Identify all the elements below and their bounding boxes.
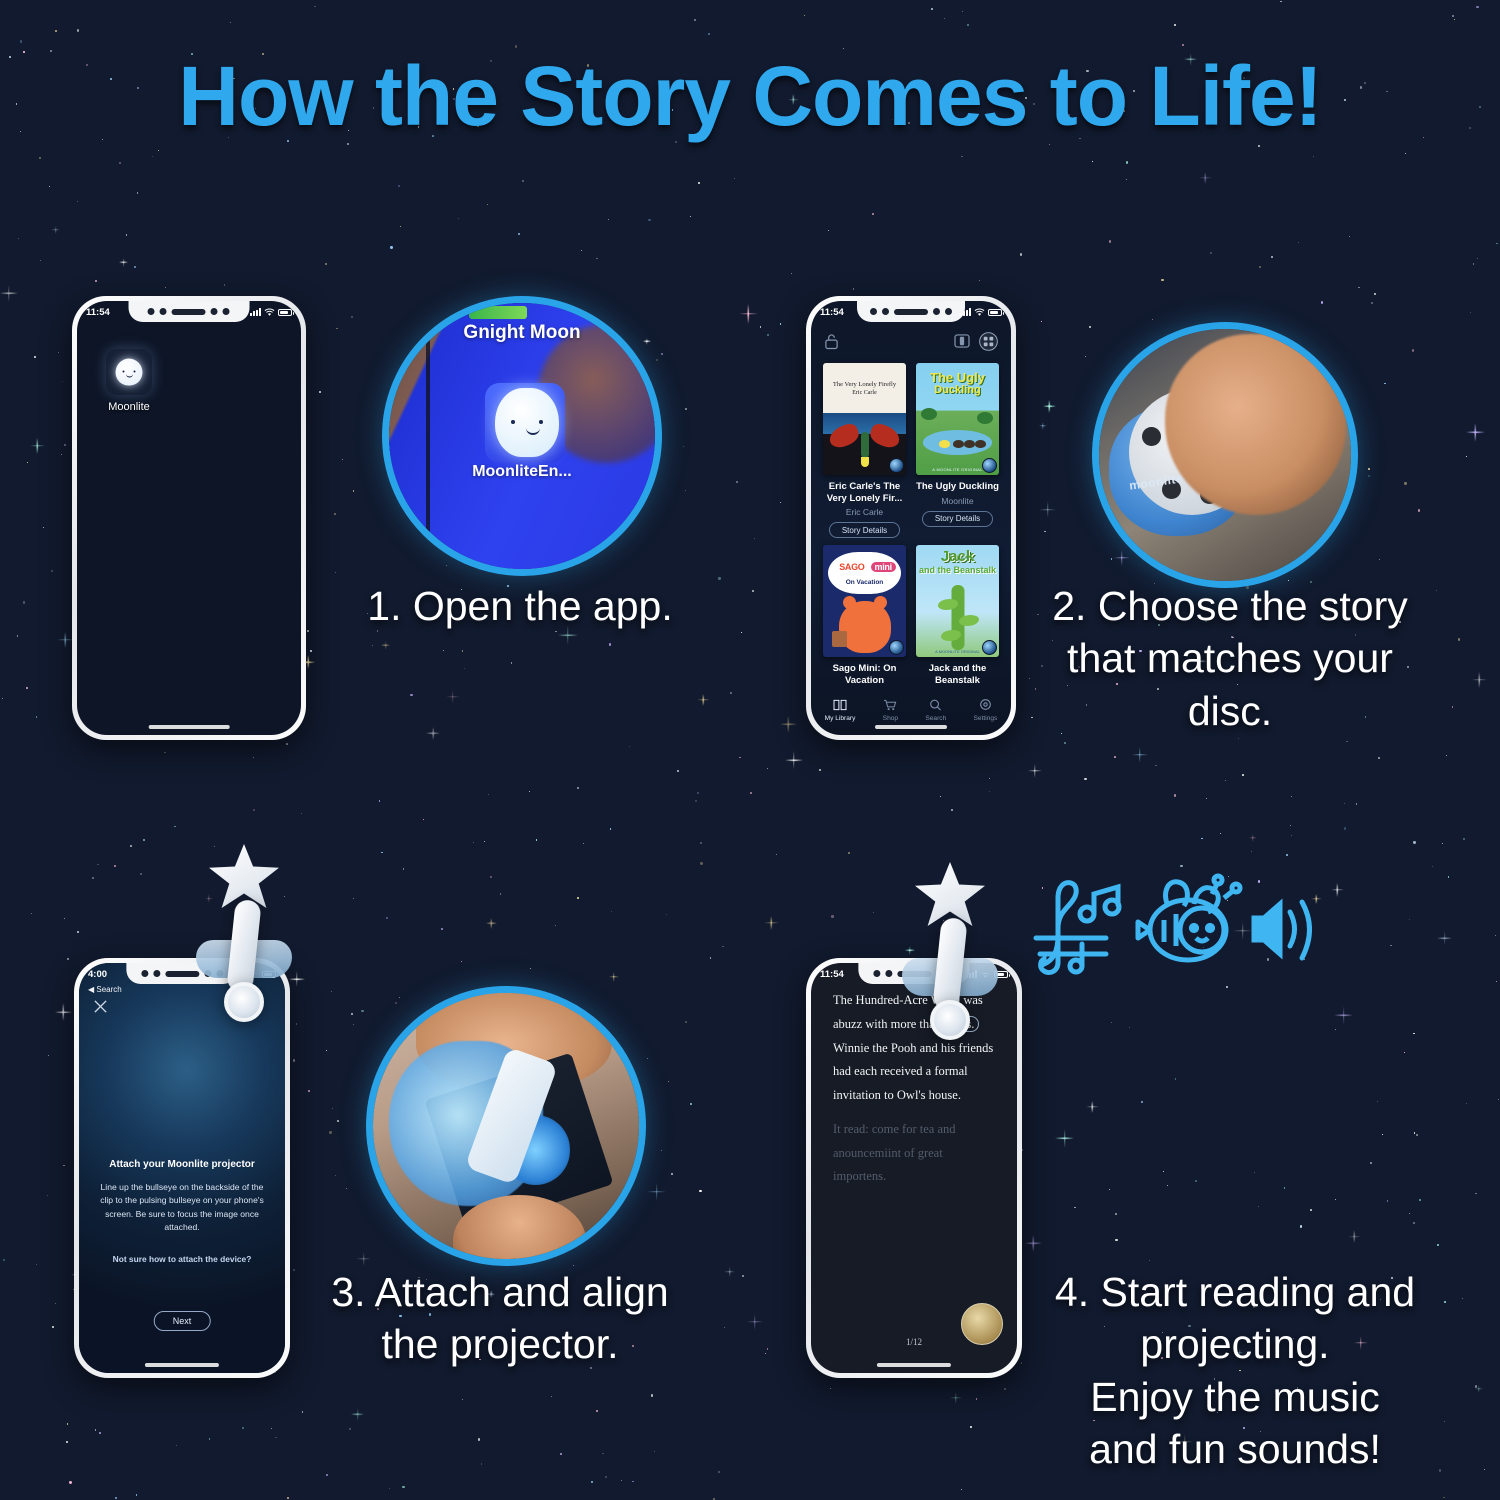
status-time: 11:54 <box>86 307 110 318</box>
step-1-caption: 1. Open the app. <box>330 580 710 632</box>
book-card[interactable]: Jack and the Beanstalk A MOONLITE ORIGIN… <box>916 545 999 686</box>
book-cover: Jack and the Beanstalk A MOONLITE ORIGIN… <box>916 545 999 657</box>
step-4-caption: 4. Start reading and projecting. Enjoy t… <box>1020 1266 1450 1476</box>
status-bar: 11:54 <box>811 963 1017 985</box>
tab-my-library[interactable]: My Library <box>825 699 856 722</box>
book-card[interactable]: The Ugly Duckling A MOONLITE ORIGINAL <box>916 363 999 538</box>
attach-heading: Attach your Moonlite projector <box>95 1159 269 1170</box>
bee-icon <box>1138 876 1240 960</box>
status-bar: 11:54 <box>77 301 301 323</box>
signal-icon <box>966 970 977 978</box>
step-2-caption: 2. Choose the story that matches your di… <box>1020 580 1440 737</box>
home-indicator <box>877 1363 951 1367</box>
hand <box>1165 334 1346 515</box>
wifi-icon <box>264 308 275 317</box>
cover-subtitle: On Vacation <box>823 579 906 586</box>
inset-top-label: Gnight Moon <box>389 322 655 344</box>
next-button[interactable]: Next <box>154 1311 211 1331</box>
phone-mockup-step-1: 11:54 <box>72 296 306 740</box>
wifi-icon <box>974 308 985 317</box>
tab-label: Settings <box>974 715 998 722</box>
photo-inset-attaching-clip <box>366 986 646 1266</box>
cart-icon <box>883 699 897 711</box>
book-icon <box>833 699 847 711</box>
book-author: Moonlite <box>916 496 999 506</box>
caption-line: disc. <box>1020 685 1440 737</box>
wifi-icon <box>248 970 259 979</box>
book-card[interactable]: SAGOmini On Vacation Sago Mini: On Vacat… <box>823 545 906 686</box>
app-icon-label: Moonlite <box>101 401 157 413</box>
story-text-after: Winnie the Pooh and his friends had each… <box>833 1041 993 1103</box>
step-3-caption: 3. Attach and align the projector. <box>300 1266 700 1371</box>
moonlite-icon <box>106 349 152 395</box>
moon-face-icon <box>495 388 559 457</box>
disc-badge-icon <box>889 458 904 473</box>
phone-mockup-step-4: 11:54 The Hundred-Acre Wood was abuzz wi… <box>806 958 1022 1378</box>
caption-line: Enjoy the music <box>1020 1371 1450 1423</box>
caption-line: 3. Attach and align <box>300 1266 700 1318</box>
book-card[interactable]: The Very Lonely Firefly Eric Carle Eric … <box>823 363 906 538</box>
cover-title: The Ugly <box>930 370 985 385</box>
signal-icon <box>250 308 261 316</box>
caption-line: and fun sounds! <box>1020 1423 1450 1475</box>
tab-label: My Library <box>825 715 856 722</box>
story-paragraph: The Hundred-Acre Wood was abuzz with mor… <box>833 989 995 1108</box>
phone-mockup-step-2: 11:54 <box>806 296 1016 740</box>
caption-line: 4. Start reading and <box>1020 1266 1450 1318</box>
photo-inset-app-icon-closeup: Gnight Moon MoonliteEn... <box>382 296 662 576</box>
back-label: Search <box>96 985 121 994</box>
cover-subtitle: and the Beanstalk <box>916 566 999 575</box>
phone-mockup-step-3: 4:00 ◀ Search Attach your Moonlite proje… <box>74 958 290 1378</box>
story-next-paragraph: It read: come for tea and anouncemiint o… <box>833 1118 995 1189</box>
story-details-button[interactable]: Story Details <box>922 511 993 527</box>
book-cover: The Very Lonely Firefly Eric Carle <box>823 363 906 475</box>
story-details-button[interactable]: Story Details <box>829 522 900 538</box>
attach-body-text: Line up the bullseye on the backside of … <box>95 1181 269 1234</box>
book-author: Eric Carle <box>823 507 906 517</box>
back-arrow-icon: ◀ <box>88 985 94 994</box>
tab-search[interactable]: Search <box>925 699 946 722</box>
status-time: 11:54 <box>820 969 844 980</box>
inset-icon-label: MoonliteEn... <box>410 463 633 481</box>
tab-shop[interactable]: Shop <box>883 699 898 722</box>
book-cover: The Ugly Duckling A MOONLITE ORIGINAL <box>916 363 999 475</box>
close-icon[interactable] <box>93 999 108 1014</box>
signal-icon <box>960 308 971 316</box>
music-notes-icon <box>1036 883 1119 973</box>
cover-title: The Very Lonely Firefly <box>833 381 896 388</box>
grid-view-icon[interactable] <box>979 332 998 351</box>
battery-icon <box>994 971 1008 978</box>
book-title: Sago Mini: On Vacation <box>823 663 906 686</box>
status-bar: 11:54 <box>811 301 1011 323</box>
book-title: Jack and the Beanstalk <box>916 663 999 686</box>
book-title: The Ugly Duckling <box>916 481 999 493</box>
search-icon <box>929 699 942 711</box>
cover-badge: mini <box>871 562 896 572</box>
cover-subtitle: Duckling <box>916 385 999 396</box>
cover-title: SAGO <box>835 562 868 572</box>
book-cover: SAGOmini On Vacation <box>823 545 906 657</box>
attach-help-link[interactable]: Not sure how to attach the device? <box>95 1254 269 1264</box>
book-title: Eric Carle's The Very Lonely Fir... <box>823 481 906 504</box>
back-to-search-link[interactable]: ◀ Search <box>88 985 122 994</box>
wifi-icon <box>980 970 991 979</box>
caption-line: that matches your <box>1020 632 1440 684</box>
cover-author: Eric Carle <box>852 390 877 396</box>
battery-icon <box>262 971 276 978</box>
status-time: 11:54 <box>820 307 844 318</box>
page-title: How the Story Comes to Life! <box>0 48 1500 145</box>
gear-icon <box>979 698 992 711</box>
battery-icon <box>988 309 1002 316</box>
speaker-icon <box>1254 902 1310 958</box>
caption-line: 2. Choose the story <box>1020 580 1440 632</box>
bottom-tab-bar: My Library Shop Search <box>811 698 1011 722</box>
cover-title: Jack <box>916 550 999 564</box>
home-indicator <box>875 725 947 729</box>
lock-icon[interactable] <box>824 333 839 350</box>
tab-label: Search <box>925 715 946 722</box>
sound-icon-group <box>1016 868 1316 978</box>
status-time: 4:00 <box>88 969 107 980</box>
page-indicator: 1/12 <box>811 1337 1017 1347</box>
highlighted-word[interactable]: bees. <box>944 1016 979 1032</box>
disc-badge-icon <box>982 458 997 473</box>
disc-badge-icon <box>889 640 904 655</box>
caption-line: the projector. <box>300 1318 700 1370</box>
tab-settings[interactable]: Settings <box>974 698 998 722</box>
battery-icon <box>278 309 292 316</box>
tab-label: Shop <box>883 715 898 722</box>
app-icon-moonlite[interactable]: Moonlite <box>101 349 157 413</box>
list-view-icon[interactable] <box>954 334 970 348</box>
home-indicator <box>149 725 230 729</box>
photo-inset-disc-loading: moonlite <box>1092 322 1358 588</box>
home-indicator <box>145 1363 219 1367</box>
status-bar: 4:00 <box>79 963 285 985</box>
caption-line: projecting. <box>1020 1318 1450 1370</box>
